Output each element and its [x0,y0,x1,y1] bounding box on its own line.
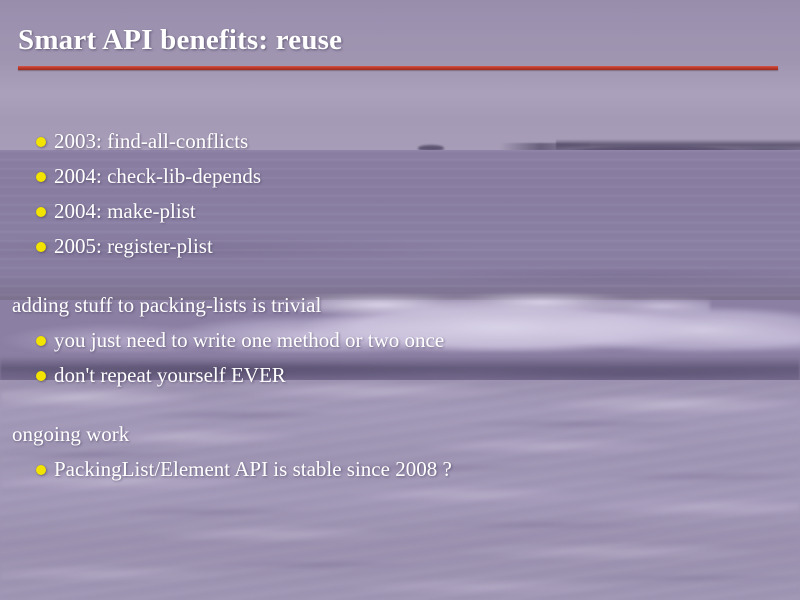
list-item: you just need to write one method or two… [0,323,800,358]
slide-content: Smart API benefits: reuse 2003: find-all… [0,0,800,600]
bullet-icon [36,465,46,475]
list-item-label: ongoing work [12,422,129,446]
bullet-block: adding stuff to packing-lists is trivial… [0,288,800,393]
list-item: 2004: check-lib-depends [0,159,800,194]
list-item: 2003: find-all-conflicts [0,124,800,159]
list-item: ongoing work [0,417,800,452]
slide-body: 2003: find-all-conflicts 2004: check-lib… [0,124,800,487]
list-item: don't repeat yourself EVER [0,358,800,393]
bullet-icon [36,137,46,147]
list-item-label: 2004: check-lib-depends [54,164,261,188]
bullet-icon [36,336,46,346]
list-item: 2005: register-plist [0,229,800,264]
bullet-icon [36,242,46,252]
bullet-icon [36,172,46,182]
list-item-label: don't repeat yourself EVER [54,363,286,387]
list-item-label: PackingList/Element API is stable since … [54,457,452,481]
title-underline-rule [18,66,778,70]
list-item-label: 2004: make-plist [54,199,196,223]
bullet-block: ongoing work PackingList/Element API is … [0,417,800,487]
slide-title: Smart API benefits: reuse [18,24,342,57]
list-item: 2004: make-plist [0,194,800,229]
list-item-label: 2003: find-all-conflicts [54,129,248,153]
list-item: PackingList/Element API is stable since … [0,452,800,487]
presentation-slide: Smart API benefits: reuse 2003: find-all… [0,0,800,600]
bullet-icon [36,371,46,381]
bullet-icon [36,207,46,217]
list-item-label: adding stuff to packing-lists is trivial [12,293,321,317]
list-item: adding stuff to packing-lists is trivial [0,288,800,323]
bullet-block: 2003: find-all-conflicts 2004: check-lib… [0,124,800,264]
list-item-label: you just need to write one method or two… [54,328,444,352]
list-item-label: 2005: register-plist [54,234,213,258]
